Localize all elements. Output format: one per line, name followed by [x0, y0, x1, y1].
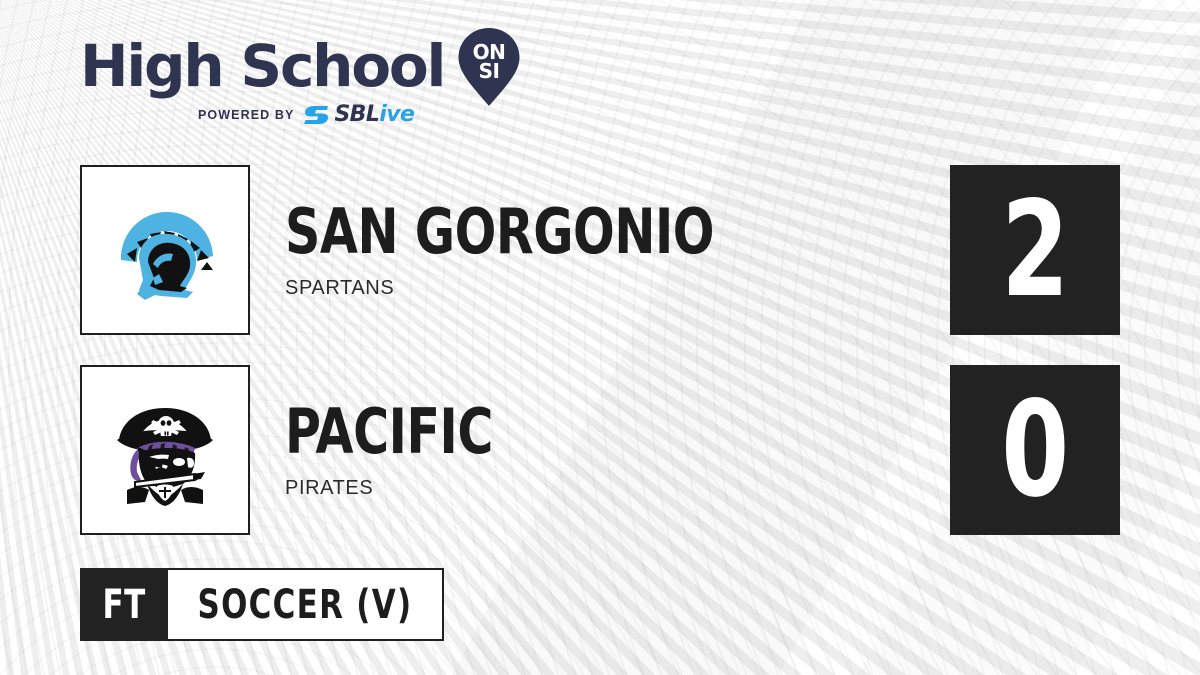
team-name: SAN GORGONIO — [285, 201, 714, 263]
team-score-box-home: 2 — [950, 165, 1120, 335]
team-mascot: PIRATES — [285, 477, 521, 500]
team-score-value: 0 — [1002, 384, 1069, 516]
game-status-bar: FT SOCCER (V) — [80, 568, 444, 641]
brand-wordmark: High School ON SI — [80, 32, 510, 100]
team-row-away: PACIFIC PIRATES 0 — [80, 365, 1120, 535]
sblive-logo: SBLive — [304, 104, 414, 126]
brand-header: High School ON SI POWERED BY SBLive — [80, 32, 510, 134]
sblive-s-mark — [304, 104, 330, 126]
team-text-away: PACIFIC PIRATES — [285, 365, 521, 535]
team-logo-pirate-head — [80, 365, 250, 535]
brand-title: High School — [80, 37, 444, 95]
team-name: PACIFIC — [285, 401, 493, 463]
game-period-label: FT — [102, 585, 145, 625]
team-row-home: SAN GORGONIO SPARTANS 2 — [80, 165, 1120, 335]
game-sport-box: SOCCER (V) — [168, 568, 444, 641]
sblive-wordmark-dark: SBL — [334, 102, 379, 127]
sblive-wordmark: SBLive — [334, 104, 414, 126]
game-sport-label: SOCCER (V) — [198, 585, 413, 625]
team-mascot: SPARTANS — [285, 277, 773, 300]
svg-text:SI: SI — [479, 59, 500, 83]
scoreboard-graphic: High School ON SI POWERED BY SBLive — [0, 0, 1200, 675]
on-si-pin-icon: ON SI — [458, 28, 520, 106]
powered-by-row: POWERED BY SBLive — [80, 104, 510, 126]
team-score-box-away: 0 — [950, 365, 1120, 535]
sblive-wordmark-blue: ive — [379, 102, 414, 127]
powered-by-label: POWERED BY — [198, 108, 294, 122]
game-period-box: FT — [80, 568, 168, 641]
team-text-home: SAN GORGONIO SPARTANS — [285, 165, 773, 335]
team-score-value: 2 — [1002, 184, 1069, 316]
team-logo-spartan-helmet — [80, 165, 250, 335]
